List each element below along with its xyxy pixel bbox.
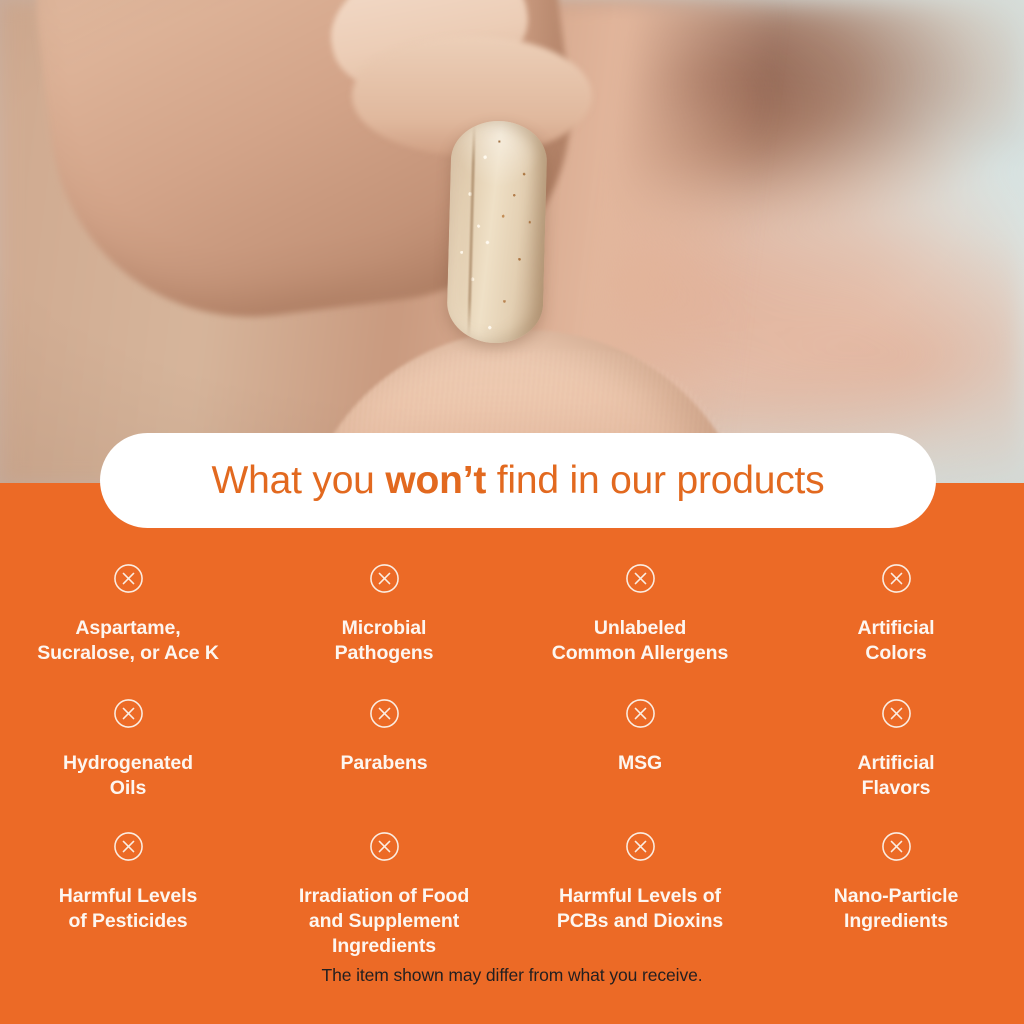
claim-item: Parabens: [256, 683, 512, 816]
claim-item: Hydrogenated Oils: [0, 683, 256, 816]
claim-label: Harmful Levels of PCBs and Dioxins: [557, 884, 723, 934]
headline-emphasis: won’t: [385, 459, 486, 502]
product-claims-graphic: What you won’t find in our products Aspa…: [0, 0, 1024, 1024]
circle-x-icon: [881, 831, 912, 862]
claim-item: Harmful Levels of Pesticides: [0, 816, 256, 961]
circle-x-icon: [625, 563, 656, 594]
excluded-ingredients-grid: Aspartame, Sucralose, or Ace K Microbial…: [0, 548, 1024, 961]
circle-x-icon: [369, 563, 400, 594]
claim-item: MSG: [512, 683, 768, 816]
circle-x-icon: [881, 563, 912, 594]
claim-label: Harmful Levels of Pesticides: [59, 884, 197, 934]
claim-label: Microbial Pathogens: [335, 616, 434, 666]
disclaimer-text: The item shown may differ from what you …: [0, 965, 1024, 986]
claim-item: Harmful Levels of PCBs and Dioxins: [512, 816, 768, 961]
claim-item: Nano-Particle Ingredients: [768, 816, 1024, 961]
circle-x-icon: [113, 831, 144, 862]
hero-photo: [0, 0, 1024, 486]
circle-x-icon: [369, 698, 400, 729]
page-title: What you won’t find in our products: [212, 461, 825, 500]
circle-x-icon: [625, 698, 656, 729]
claim-label: Hydrogenated Oils: [63, 751, 193, 801]
claim-item: Irradiation of Food and Supplement Ingre…: [256, 816, 512, 961]
headline-part-1: What you: [212, 459, 386, 502]
claim-label: Aspartame, Sucralose, or Ace K: [37, 616, 219, 666]
claim-label: Nano-Particle Ingredients: [834, 884, 958, 934]
claim-label: Parabens: [341, 751, 428, 776]
circle-x-icon: [113, 698, 144, 729]
claim-label: MSG: [618, 751, 662, 776]
circle-x-icon: [113, 563, 144, 594]
claim-item: Microbial Pathogens: [256, 548, 512, 683]
claim-label: Unlabeled Common Allergens: [552, 616, 728, 666]
claim-label: Artificial Colors: [857, 616, 934, 666]
headline-pill: What you won’t find in our products: [100, 433, 936, 528]
claim-item: Artificial Colors: [768, 548, 1024, 683]
claim-label: Artificial Flavors: [857, 751, 934, 801]
claim-label: Irradiation of Food and Supplement Ingre…: [299, 884, 469, 959]
photo-vignette: [0, 0, 1024, 486]
claim-item: Unlabeled Common Allergens: [512, 548, 768, 683]
circle-x-icon: [881, 698, 912, 729]
headline-part-2: find in our products: [486, 459, 824, 502]
claim-item: Aspartame, Sucralose, or Ace K: [0, 548, 256, 683]
circle-x-icon: [369, 831, 400, 862]
claim-item: Artificial Flavors: [768, 683, 1024, 816]
circle-x-icon: [625, 831, 656, 862]
